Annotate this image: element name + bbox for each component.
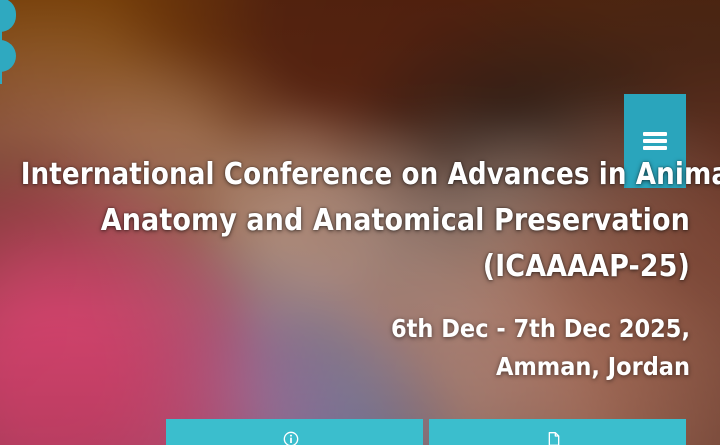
info-circle-icon [283,431,299,445]
conference-location: Amman, Jordan [0,348,690,386]
logo-stroke-lower [0,40,16,72]
conference-title-line-2: Anatomy and Anatomical Preservation [0,198,690,244]
conference-logo-mark[interactable] [0,0,20,84]
hamburger-bar-2 [643,139,667,143]
hamburger-bar-1 [643,132,667,136]
conference-meta: 6th Dec - 7th Dec 2025, Amman, Jordan [0,310,690,386]
hamburger-menu-icon [643,132,667,150]
conference-title: International Conference on Advances in … [0,152,690,290]
conference-dates: 6th Dec - 7th Dec 2025, [0,310,690,348]
hero-action-buttons [166,419,686,445]
document-icon [546,431,562,445]
conference-title-acronym: (ICAAAAP-25) [0,244,690,290]
conference-brochure-button[interactable] [429,419,686,445]
conference-title-line-1: International Conference on Advances in … [21,152,690,198]
conference-hero-page: International Conference on Advances in … [0,0,720,445]
hamburger-bar-3 [643,146,667,150]
conference-info-button[interactable] [166,419,423,445]
logo-stroke-upper [0,0,16,32]
